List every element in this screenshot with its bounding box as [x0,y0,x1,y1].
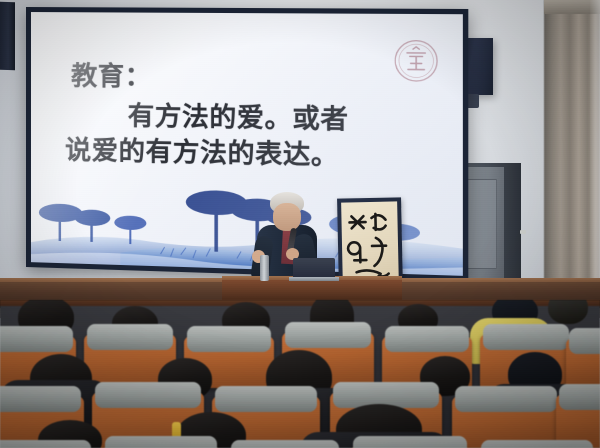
seat-headrest [483,324,569,350]
laptop [293,258,335,279]
seat-headrest [231,440,339,448]
seat-headrest [95,382,201,408]
audience-head [548,300,588,324]
projection-screen-frame: 教育： 有方法的爱。或者 说爱的有方法的表达。 [26,7,468,281]
seat-headrest [569,328,600,354]
wall-speaker-left-icon [0,2,15,71]
seat-headrest [455,386,557,412]
door-panel [466,179,497,269]
seat-headrest [0,440,91,448]
seat-headrest [285,322,371,348]
lecture-hall-photo: 教育： 有方法的爱。或者 说爱的有方法的表达。 [0,0,600,448]
seat-headrest [0,326,73,352]
thermos-bottle [260,255,269,281]
laptop-base [289,277,339,281]
seat-headrest [353,436,467,448]
seat-headrest [0,386,81,412]
audience-seating [0,300,600,448]
seat-headrest [87,324,173,350]
calligraphy-strokes-icon [341,201,399,286]
presenter-face [273,203,301,231]
door-knob[interactable] [520,230,526,234]
presenter-desk [222,280,402,302]
seat-headrest [105,436,217,448]
slide-line-3: 说爱的有方法的表达。 [65,134,441,176]
window-light-slit [590,0,600,300]
calligraphy-paper [341,201,399,286]
auditorium-seat[interactable] [566,338,600,388]
seat-headrest [215,386,317,412]
seat-headrest [559,384,600,410]
seat-headrest [187,326,271,352]
seat-headrest [385,326,469,352]
slide-text-block: 教育： 有方法的爱。或者 说爱的有方法的表达。 [71,60,441,176]
slide-line-2: 有方法的爱。或者 [128,100,441,140]
slide-line-1: 教育： [71,60,441,99]
seat-headrest [481,440,593,448]
